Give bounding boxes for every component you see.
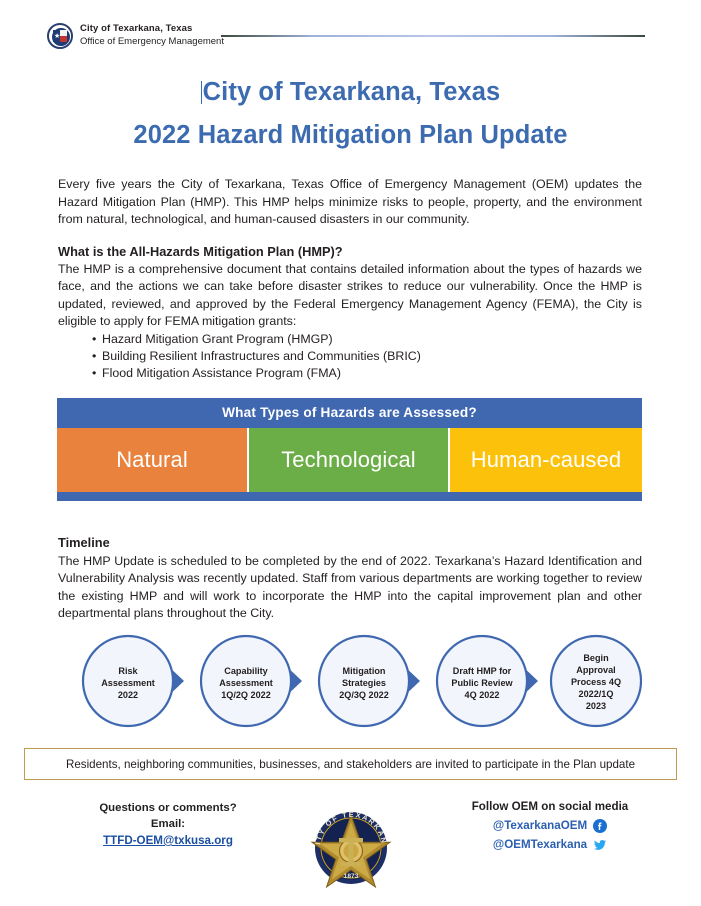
timeline-diagram: Risk Assessment 2022 Capability Assessme… — [62, 633, 642, 729]
hazards-table-footer-bar — [57, 492, 642, 501]
timeline-section: Timeline The HMP Update is scheduled to … — [58, 534, 642, 623]
timeline-step-5-line-1: Begin — [583, 653, 608, 663]
hmp-section-paragraph: The HMP is a comprehensive document that… — [58, 261, 642, 331]
invite-banner: Residents, neighboring communities, busi… — [24, 748, 677, 780]
timeline-step-5: Begin Approval Process 4Q 2022/1Q 2023 — [551, 636, 641, 726]
timeline-step-4-line-3: 4Q 2022 — [465, 690, 500, 700]
timeline-step-5-line-3: Process 4Q — [571, 677, 621, 687]
timeline-paragraph: The HMP Update is scheduled to be comple… — [58, 553, 642, 623]
timeline-step-5-line-5: 2023 — [586, 701, 606, 711]
timeline-step-4: Draft HMP for Public Review 4Q 2022 — [437, 636, 527, 726]
hazards-table-row: Natural Technological Human-caused — [57, 428, 642, 492]
social-handle-facebook: @TexarkanaOEM — [493, 816, 587, 835]
contact-email-link[interactable]: TTFD-OEM@txkusa.org — [48, 832, 288, 849]
letterhead: ★ City of Texarkana, Texas Office of Eme… — [0, 0, 701, 58]
timeline-step-1: Risk Assessment 2022 — [83, 636, 173, 726]
letterhead-divider — [221, 35, 645, 37]
social-block: Follow OEM on social media @TexarkanaOEM… — [430, 798, 670, 854]
hmp-section: What is the All-Hazards Mitigation Plan … — [58, 243, 642, 383]
timeline-step-5-line-4: 2022/1Q — [579, 689, 614, 699]
hazards-table: What Types of Hazards are Assessed? Natu… — [57, 398, 642, 501]
list-item: Flood Mitigation Assistance Program (FMA… — [58, 365, 642, 382]
intro-paragraph: Every five years the City of Texarkana, … — [58, 176, 642, 229]
timeline-heading: Timeline — [58, 534, 642, 552]
grant-list: Hazard Mitigation Grant Program (HMGP) B… — [58, 331, 642, 383]
contact-prompt: Questions or comments? — [48, 800, 288, 816]
texas-flag-badge-icon: ★ — [47, 23, 73, 49]
timeline-step-4-line-2: Public Review — [451, 678, 513, 688]
social-handle-twitter: @OEMTexarkana — [493, 835, 587, 854]
timeline-step-1-line-1: Risk — [118, 666, 138, 676]
timeline-step-2: Capability Assessment 1Q/2Q 2022 — [201, 636, 291, 726]
hmp-section-heading: What is the All-Hazards Mitigation Plan … — [58, 243, 642, 261]
social-account-twitter[interactable]: @OEMTexarkana — [430, 835, 670, 854]
social-account-facebook[interactable]: @TexarkanaOEM — [430, 816, 670, 835]
hazard-cell-human-caused: Human-caused — [450, 428, 642, 492]
twitter-icon[interactable] — [593, 838, 607, 852]
timeline-step-3: Mitigation Strategies 2Q/3Q 2022 — [319, 636, 409, 726]
page-subtitle: 2022 Hazard Mitigation Plan Update — [0, 121, 701, 150]
list-item: Building Resilient Infrastructures and C… — [58, 348, 642, 365]
letterhead-text: City of Texarkana, Texas Office of Emerg… — [80, 22, 224, 48]
timeline-step-3-line-2: Strategies — [342, 678, 386, 688]
facebook-icon[interactable] — [593, 819, 607, 833]
timeline-step-3-line-3: 2Q/3Q 2022 — [339, 690, 389, 700]
timeline-step-3-line-1: Mitigation — [343, 666, 386, 676]
hazard-cell-technological: Technological — [247, 428, 450, 492]
hazards-table-header: What Types of Hazards are Assessed? — [57, 398, 642, 428]
timeline-step-2-line-3: 1Q/2Q 2022 — [221, 690, 271, 700]
letterhead-department: Office of Emergency Management — [80, 35, 224, 48]
list-item: Hazard Mitigation Grant Program (HMGP) — [58, 331, 642, 348]
page-title-text: City of Texarkana, Texas — [203, 78, 501, 106]
timeline-step-1-line-2: Assessment — [101, 678, 155, 688]
letterhead-org-name: City of Texarkana, Texas — [80, 22, 224, 35]
timeline-step-5-line-2: Approval — [576, 665, 615, 675]
timeline-step-1-line-3: 2022 — [118, 690, 138, 700]
timeline-step-4-line-1: Draft HMP for — [453, 666, 512, 676]
text-caret — [201, 81, 202, 104]
contact-email-label: Email: — [48, 816, 288, 832]
timeline-step-2-line-1: Capability — [224, 666, 268, 676]
invite-banner-text: Residents, neighboring communities, busi… — [66, 758, 635, 771]
hazard-cell-natural: Natural — [57, 428, 247, 492]
timeline-step-2-line-2: Assessment — [219, 678, 273, 688]
city-of-texarkana-seal-icon: CITY OF TEXARKANA 1873 — [306, 798, 396, 894]
social-heading: Follow OEM on social media — [430, 798, 670, 816]
page-title: City of Texarkana, Texas — [0, 78, 701, 107]
contact-block: Questions or comments? Email: TTFD-OEM@t… — [48, 800, 288, 849]
seal-year: 1873 — [344, 873, 359, 880]
